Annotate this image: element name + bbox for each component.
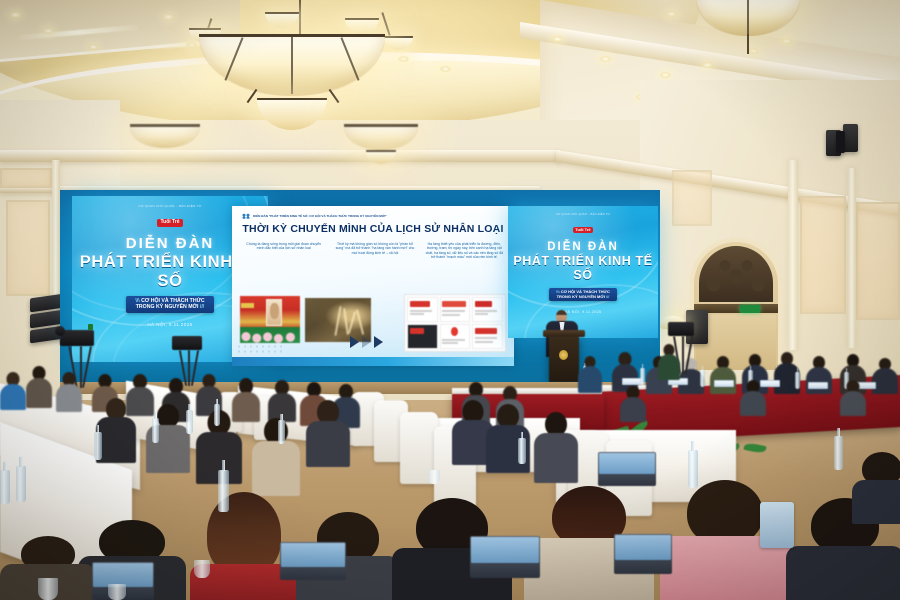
logo-cell — [440, 324, 471, 349]
downlight-icon — [10, 12, 21, 18]
publisher-logo: Tuổi Trẻ — [573, 227, 593, 233]
arched-doorway[interactable] — [690, 238, 782, 370]
forum-line2: PHÁT TRIỂN KINH TẾ SỐ — [508, 254, 658, 282]
leader-portrait — [266, 299, 282, 326]
water-bottle — [186, 410, 193, 434]
logo-cell — [472, 324, 503, 349]
chandelier-right — [688, 0, 808, 62]
nameplate — [622, 378, 642, 385]
water-bottle — [834, 436, 843, 470]
logo-cell — [407, 297, 438, 322]
camera-operator — [658, 344, 680, 378]
news-logo-grid — [404, 294, 506, 352]
podium-emblem — [559, 350, 568, 360]
video-camera — [60, 330, 94, 346]
water-bottle — [278, 420, 285, 444]
slide-nav-arrows[interactable] — [350, 336, 383, 348]
forum-ribbon-line1: CƠ HỘI VÀ THÁCH THỨC — [141, 298, 204, 304]
downlight-icon — [660, 72, 671, 78]
water-bottle — [94, 432, 102, 460]
chandelier-far — [338, 116, 424, 172]
slide-header-text: DIỄN ĐÀN "PHÁT TRIỂN KINH TẾ SỐ: CƠ HỘI … — [253, 214, 387, 218]
cornice-back — [0, 150, 560, 162]
chandelier-far-left — [126, 118, 206, 168]
forum-ribbon-line2: TRONG KỶ NGUYÊN MỚI — [557, 294, 605, 299]
downlight-icon — [552, 36, 563, 42]
forum-date: HÀ NỘI, 9.11.2025 — [508, 310, 658, 314]
person-front — [852, 452, 900, 522]
chandelier-drop-bowl — [366, 150, 396, 164]
chandelier-drop-bowl — [257, 98, 327, 130]
slide-column-1: Chúng ta đang sống trong một giai đoạn c… — [240, 242, 327, 260]
downlight-icon — [600, 56, 611, 62]
led-right-brand: CƠ QUAN CHỦ QUẢN – BÁO ĐIỆN TỬ Tuổi Trẻ … — [508, 213, 658, 314]
drinking-glass — [108, 584, 126, 600]
downlight-icon — [702, 62, 713, 68]
water-bottle — [152, 418, 159, 443]
slide-title: THỜI KỲ CHUYỂN MÌNH CỦA LỊCH SỬ NHÂN LOẠ… — [232, 223, 514, 235]
laptop — [470, 536, 540, 578]
forum-ribbon-line2: TRONG KỶ NGUYÊN MỚI — [136, 304, 199, 310]
play-arrow-icon[interactable] — [350, 336, 359, 348]
downlight-icon — [666, 11, 677, 17]
person — [306, 400, 350, 464]
wall-pilaster — [52, 160, 60, 310]
water-bottle — [518, 438, 526, 464]
video-camera — [668, 322, 694, 336]
video-camera — [172, 336, 202, 350]
wall-pilaster — [848, 168, 856, 348]
exit-sign — [740, 305, 760, 313]
chandelier-bowl — [130, 124, 200, 148]
chandelier-bowl — [344, 124, 418, 150]
nameplate — [808, 382, 828, 389]
downlight-icon — [163, 14, 174, 20]
water-bottle — [640, 368, 645, 385]
water-bottle — [795, 372, 800, 389]
tablet[interactable] — [760, 502, 794, 548]
water-bottle — [218, 470, 229, 512]
wall-speaker-mount — [836, 131, 845, 153]
camera-tally-light — [88, 324, 93, 330]
water-bottle — [700, 370, 705, 387]
publisher-logo: Tuổi Trẻ — [157, 219, 182, 227]
slide-dot-pattern — [236, 344, 282, 354]
slide-column-2: Thời kỳ mà không gian số không còn là "p… — [333, 242, 416, 260]
water-bottle — [16, 466, 26, 502]
portrait-face — [270, 303, 279, 319]
drinking-glass — [38, 578, 58, 600]
led-panel-right: CƠ QUAN CHỦ QUẢN – BÁO ĐIỆN TỬ Tuổi Trẻ … — [508, 206, 658, 338]
laptop — [614, 534, 672, 574]
logo-cell — [440, 297, 471, 322]
logo-cell — [472, 297, 503, 322]
slide-footer-bar — [232, 357, 514, 366]
chandelier-arm-lamp — [383, 36, 413, 50]
wall-panel — [6, 200, 50, 296]
wall-panel — [800, 196, 846, 314]
chandelier-main — [185, 0, 415, 130]
wall-panel — [856, 202, 900, 320]
logo-cell — [407, 324, 438, 349]
wall-panel — [0, 168, 52, 188]
wall-speaker — [843, 124, 858, 152]
downlight-icon — [43, 28, 54, 34]
conference-hall-photo: CƠ QUAN CHỦ QUẢN – BÁO ĐIỆN TỬ Tuổi Trẻ … — [0, 0, 900, 600]
laptop — [280, 542, 346, 580]
person — [840, 380, 866, 414]
water-bottle — [688, 450, 698, 488]
drinking-glass — [194, 560, 210, 578]
person — [534, 412, 578, 480]
camera-lens-icon — [55, 326, 65, 336]
wall-pilaster — [788, 160, 798, 350]
nameplate — [714, 380, 734, 387]
organizer-line: CƠ QUAN CHỦ QUẢN – BÁO ĐIỆN TỬ — [508, 213, 658, 216]
water-bottle — [214, 404, 220, 426]
person — [578, 356, 602, 392]
chandelier-arm-lamp — [345, 18, 379, 34]
person — [0, 372, 26, 408]
downlight-icon — [440, 66, 451, 72]
person — [252, 418, 300, 492]
next-arrow-icon[interactable] — [362, 336, 371, 348]
red-banner — [241, 303, 254, 309]
drinking-glass — [428, 470, 440, 484]
person — [56, 372, 82, 410]
parade-photo — [240, 296, 300, 343]
end-arrow-icon[interactable] — [374, 336, 383, 348]
laptop — [598, 452, 656, 486]
forum-mark-icon — [242, 213, 250, 219]
person — [96, 398, 136, 460]
crowd — [240, 327, 300, 343]
chandelier-arm-lamp — [265, 12, 299, 28]
forum-line1: DIỄN ĐÀN — [508, 241, 658, 253]
person — [26, 366, 52, 406]
slide-column-3: Hạ tầng thiết yếu của phát triển là đườn… — [423, 242, 506, 260]
presentation-slide: DIỄN ĐÀN "PHÁT TRIỂN KINH TẾ SỐ: CƠ HỘI … — [232, 206, 514, 366]
person — [620, 386, 646, 420]
person — [740, 380, 766, 414]
downlight-icon — [88, 44, 99, 50]
water-bottle — [0, 470, 10, 504]
wall-panel — [672, 170, 712, 226]
